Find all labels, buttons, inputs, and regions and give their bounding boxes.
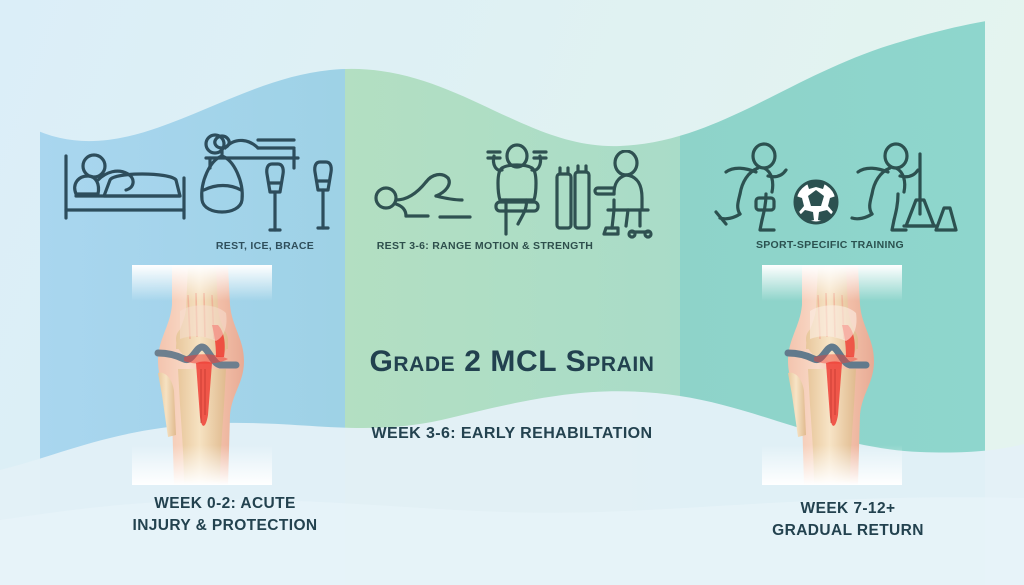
infographic-canvas: REST, ICE, BRACE REST 3-6: RANGE MOTION … xyxy=(0,0,1024,585)
phase-heading-acute-line1: WEEK 0-2: ACUTE xyxy=(60,493,390,515)
phase-heading-gradual-return-line1: WEEK 7-12+ xyxy=(700,498,996,520)
running-figure-brace-icon xyxy=(712,142,796,238)
phase-heading-gradual-return-line2: GRADUAL RETURN xyxy=(700,520,996,542)
phase-heading-acute-line2: INJURY & PROTECTION xyxy=(60,515,390,537)
floor-stretch-icon xyxy=(366,162,478,236)
phase-heading-early-rehab-line1: WEEK 3-6: EARLY REHABILTATION xyxy=(297,423,727,445)
agility-cones-icon xyxy=(898,150,958,236)
caption-acute: REST, ICE, BRACE xyxy=(150,240,380,252)
resistance-band-exercise-icon xyxy=(478,142,556,238)
dumbbells-icon xyxy=(552,160,594,236)
seated-leg-extension-icon xyxy=(592,150,658,240)
soccer-ball-icon xyxy=(792,178,840,226)
crutches-icon xyxy=(258,152,348,242)
phase-heading-acute: WEEK 0-2: ACUTE INJURY & PROTECTION xyxy=(60,493,390,537)
caption-gradual-return: SPORT-SPECIFIC TRAINING xyxy=(700,239,960,251)
caption-early-rehab: REST 3-6: RANGE MOTION & STRENGTH xyxy=(355,240,615,252)
phase-heading-early-rehab: WEEK 3-6: EARLY REHABILTATION xyxy=(297,423,727,445)
person-in-bed-icon xyxy=(52,122,202,232)
phase-heading-gradual-return: WEEK 7-12+ GRADUAL RETURN xyxy=(700,498,996,542)
page-title: Grade 2 MCL Sprain xyxy=(0,345,1024,379)
